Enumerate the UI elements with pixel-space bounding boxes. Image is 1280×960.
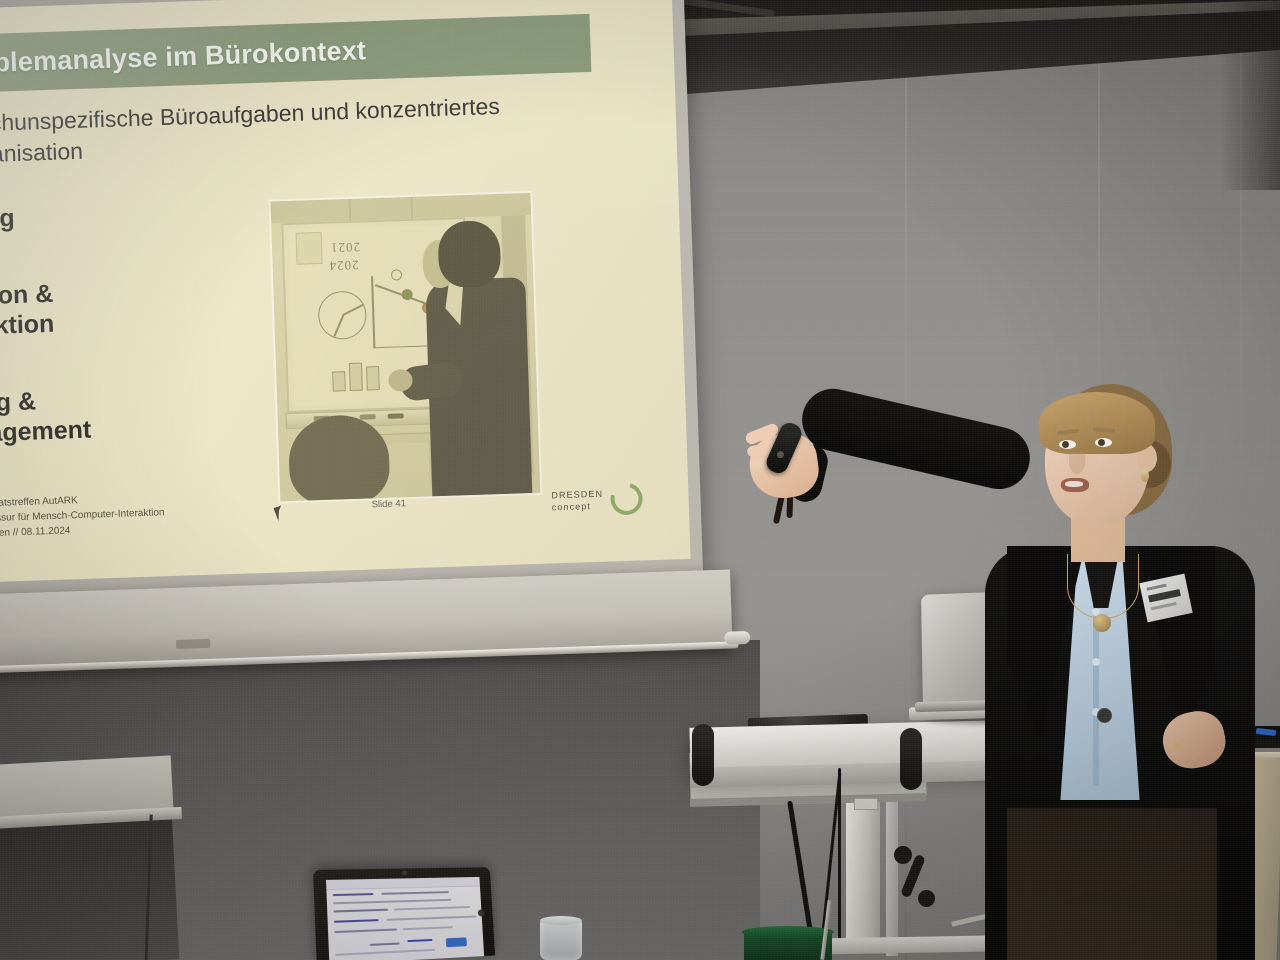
necklace-pendant (1093, 614, 1111, 632)
slide-number: Slide 41 (371, 498, 406, 510)
earring (1141, 470, 1149, 482)
dresden-concept-logo: DRESDEN concept (551, 482, 643, 517)
mouth (1061, 478, 1089, 492)
presenter-raised-arm (796, 383, 1036, 496)
slide-subtitle: te, fachunspezifische Büroaufgaben und k… (0, 88, 580, 172)
slide-title-bar: oblemanalyse im Bürokontext (0, 14, 591, 94)
glass-rim (540, 916, 582, 925)
presenter-skirt (1007, 808, 1217, 960)
slide-bullet: anung & management (0, 378, 267, 450)
foreground-laptop[interactable] (314, 865, 503, 960)
desk-end-cap (692, 724, 714, 786)
slide-embedded-photo: 2021 2024 (270, 193, 540, 501)
eye (1059, 440, 1076, 449)
highlighted-button[interactable] (446, 937, 467, 947)
screen-frame: oblemanalyse im Bürokontext te, fachunsp… (0, 0, 703, 596)
webcam-icon (402, 870, 407, 875)
wall-shadow-right (1220, 0, 1280, 190)
screen-surface: oblemanalyse im Bürokontext te, fachunsp… (0, 0, 691, 582)
screen-pull-tab[interactable] (176, 639, 210, 649)
slide-bullet: flutung (0, 195, 260, 236)
projection-screen: oblemanalyse im Bürokontext te, fachunsp… (0, 0, 741, 698)
eye (1095, 438, 1112, 447)
presenter-person (745, 378, 1280, 960)
jacket-button (1097, 708, 1112, 723)
bin-rim (742, 926, 834, 938)
laptop-screen (326, 877, 484, 960)
slide-bullet: nikation & nteraktion (0, 271, 264, 343)
slide-title: oblemanalyse im Bürokontext (0, 35, 367, 79)
flipchart-panel (0, 754, 201, 960)
logo-ring-icon (604, 477, 648, 521)
slide-footer-text: eiratstreffen AutARK fessur für Mensch-C… (0, 490, 165, 541)
presentation-photo-scene: oblemanalyse im Bürokontext te, fachunsp… (0, 0, 1280, 960)
ring (1173, 742, 1180, 749)
projected-slide: oblemanalyse im Bürokontext te, fachunsp… (0, 0, 691, 582)
necklace (1067, 554, 1139, 619)
logo-text: DRESDEN concept (551, 488, 603, 514)
slide-bullet-list: flutung nikation & nteraktion anung & ma… (0, 195, 269, 496)
